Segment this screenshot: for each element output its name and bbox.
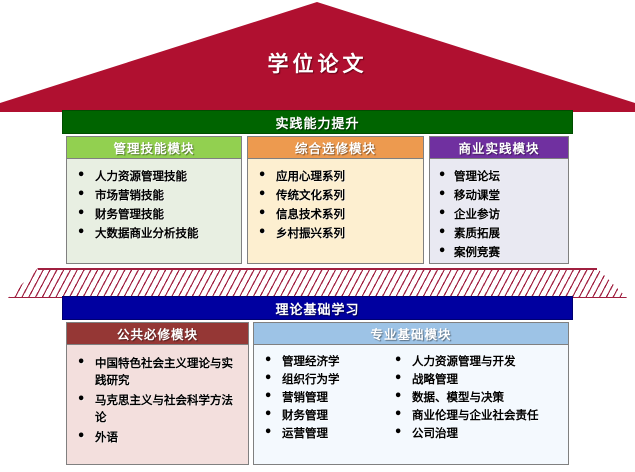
list-item: 战略管理 (390, 372, 562, 387)
list-item: 马克思主义与社会科学方法论 (73, 392, 242, 426)
list-item: 中国特色社会主义理论与实践研究 (73, 355, 242, 389)
module-comprehensive-electives-body: 应用心理系列 传统文化系列 信息技术系列 乡村振兴系列 (248, 159, 423, 263)
list-item: 应用心理系列 (254, 169, 417, 184)
floor-divider-outline (8, 268, 627, 298)
business-practice-list: 管理论坛 移动课堂 企业参访 素质拓展 案例竞赛 (436, 169, 562, 260)
module-management-skills-body: 人力资源管理技能 市场营销技能 财务管理技能 大数据商业分析技能 (67, 159, 241, 263)
floor-divider-top-edge (38, 268, 597, 270)
module-business-practice: 商业实践模块 管理论坛 移动课堂 企业参访 素质拓展 案例竞赛 (429, 136, 569, 264)
roof-section: 学位论文 (0, 0, 635, 112)
list-item: 传统文化系列 (254, 188, 417, 203)
list-item: 商业伦理与企业社会责任 (390, 408, 562, 423)
theory-banner-label: 理论基础学习 (275, 299, 359, 318)
list-item: 数据、模型与决策 (390, 390, 562, 405)
roof-title: 学位论文 (0, 48, 635, 78)
list-item: 公司治理 (390, 426, 562, 441)
list-item: 财务管理技能 (73, 207, 235, 222)
professional-core-list-left: 管理经济学 组织行为学 营销管理 财务管理 运营管理 (260, 354, 382, 444)
module-comprehensive-electives: 综合选修模块 应用心理系列 传统文化系列 信息技术系列 乡村振兴系列 (247, 136, 424, 264)
module-business-practice-header: 商业实践模块 (430, 137, 568, 159)
module-comprehensive-electives-header: 综合选修模块 (248, 137, 423, 159)
list-item: 案例竞赛 (436, 245, 562, 260)
floor-divider (8, 268, 627, 298)
module-professional-core-body: 管理经济学 组织行为学 营销管理 财务管理 运营管理 人力资源管理与开发 战略管… (254, 345, 568, 464)
module-professional-core-header: 专业基础模块 (254, 323, 568, 345)
practice-banner: 实践能力提升 (62, 110, 573, 134)
module-management-skills: 管理技能模块 人力资源管理技能 市场营销技能 财务管理技能 大数据商业分析技能 (66, 136, 242, 264)
list-item: 营销管理 (260, 390, 382, 405)
practice-banner-label: 实践能力提升 (275, 113, 359, 132)
theory-banner: 理论基础学习 (62, 296, 573, 320)
module-public-required-body: 中国特色社会主义理论与实践研究 马克思主义与社会科学方法论 外语 (67, 345, 248, 464)
list-item: 财务管理 (260, 408, 382, 423)
module-business-practice-body: 管理论坛 移动课堂 企业参访 素质拓展 案例竞赛 (430, 159, 568, 263)
professional-core-columns: 管理经济学 组织行为学 营销管理 财务管理 运营管理 人力资源管理与开发 战略管… (260, 354, 562, 444)
list-item: 乡村振兴系列 (254, 226, 417, 241)
management-skills-list: 人力资源管理技能 市场营销技能 财务管理技能 大数据商业分析技能 (73, 169, 235, 241)
list-item: 企业参访 (436, 207, 562, 222)
comprehensive-electives-list: 应用心理系列 传统文化系列 信息技术系列 乡村振兴系列 (254, 169, 417, 241)
public-required-list: 中国特色社会主义理论与实践研究 马克思主义与社会科学方法论 外语 (73, 355, 242, 446)
module-public-required-header: 公共必修模块 (67, 323, 248, 345)
module-professional-core: 专业基础模块 管理经济学 组织行为学 营销管理 财务管理 运营管理 人力资源管理… (253, 322, 569, 465)
list-item: 运营管理 (260, 426, 382, 441)
list-item: 大数据商业分析技能 (73, 226, 235, 241)
list-item: 市场营销技能 (73, 188, 235, 203)
list-item: 组织行为学 (260, 372, 382, 387)
professional-core-list-right: 人力资源管理与开发 战略管理 数据、模型与决策 商业伦理与企业社会责任 公司治理 (390, 354, 562, 444)
degree-program-house-diagram: 学位论文 实践能力提升 管理技能模块 人力资源管理技能 市场营销技能 财务管理技… (0, 0, 635, 472)
list-item: 信息技术系列 (254, 207, 417, 222)
list-item: 人力资源管理与开发 (390, 354, 562, 369)
module-public-required: 公共必修模块 中国特色社会主义理论与实践研究 马克思主义与社会科学方法论 外语 (66, 322, 249, 465)
list-item: 移动课堂 (436, 188, 562, 203)
list-item: 素质拓展 (436, 226, 562, 241)
list-item: 外语 (73, 429, 242, 446)
module-management-skills-header: 管理技能模块 (67, 137, 241, 159)
list-item: 管理论坛 (436, 169, 562, 184)
list-item: 人力资源管理技能 (73, 169, 235, 184)
list-item: 管理经济学 (260, 354, 382, 369)
